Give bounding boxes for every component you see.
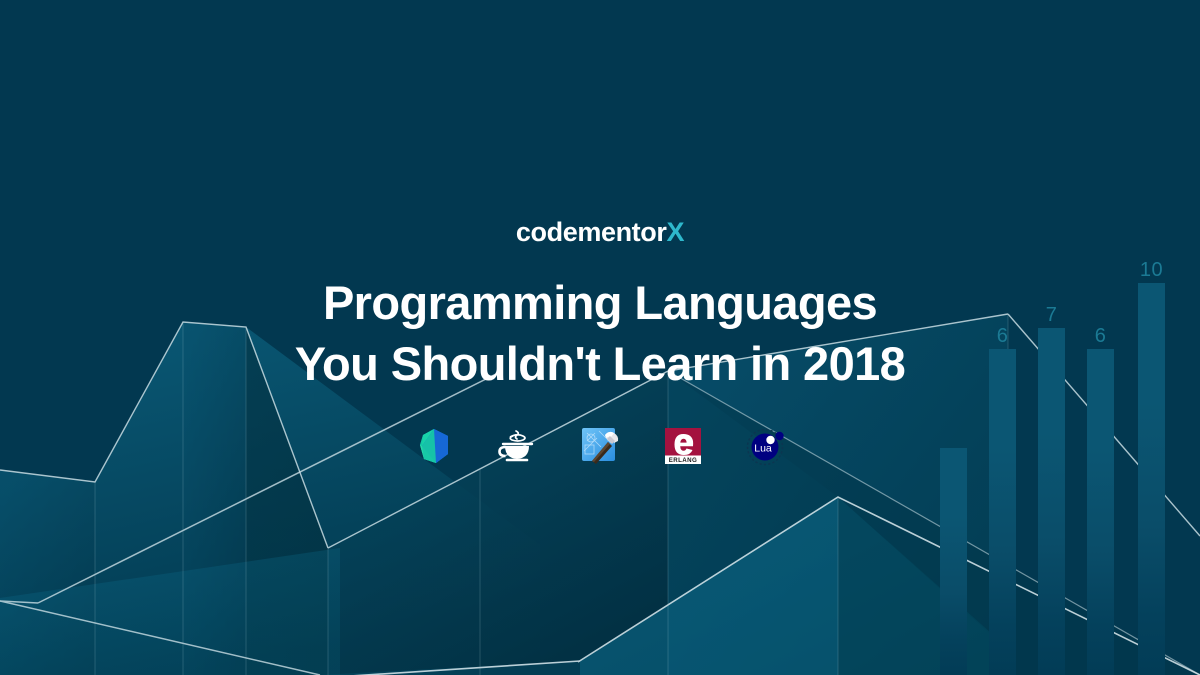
bar-rect	[1038, 328, 1065, 675]
erlang-wordmark: ERLANG	[669, 457, 698, 464]
bar-rect	[989, 349, 1016, 675]
lua-icon[interactable]: Lua	[744, 424, 788, 468]
codementorx-logo[interactable]: codementorX	[516, 219, 684, 246]
language-icon-row: ERLANG Lua	[412, 424, 788, 468]
java-coffee-cup-icon[interactable]	[495, 424, 539, 468]
lua-wordmark: Lua	[754, 443, 772, 455]
brand-name: codementor	[516, 217, 667, 247]
bar-rect	[1087, 349, 1114, 675]
bar-rect	[940, 448, 967, 675]
brand-accent-letter: X	[666, 217, 684, 247]
bar-value-label: 6	[1095, 326, 1107, 346]
bar-rect	[1138, 283, 1165, 675]
erlang-icon[interactable]: ERLANG	[661, 424, 705, 468]
bar-chart: 3 6 7 6 10	[930, 250, 1200, 675]
hero-banner: 3 6 7 6 10 codementorX Programming La	[0, 0, 1200, 675]
xcode-hammer-icon[interactable]	[578, 424, 622, 468]
dart-icon[interactable]	[412, 424, 456, 468]
page-title: Programming Languages You Shouldn't Lear…	[295, 272, 905, 394]
bar-value-label: 10	[1140, 260, 1163, 280]
bar-value-label: 6	[997, 326, 1009, 346]
bar-value-label: 7	[1046, 305, 1058, 325]
headline-line-1: Programming Languages	[323, 276, 877, 329]
headline-line-2: You Shouldn't Learn in 2018	[295, 333, 905, 394]
